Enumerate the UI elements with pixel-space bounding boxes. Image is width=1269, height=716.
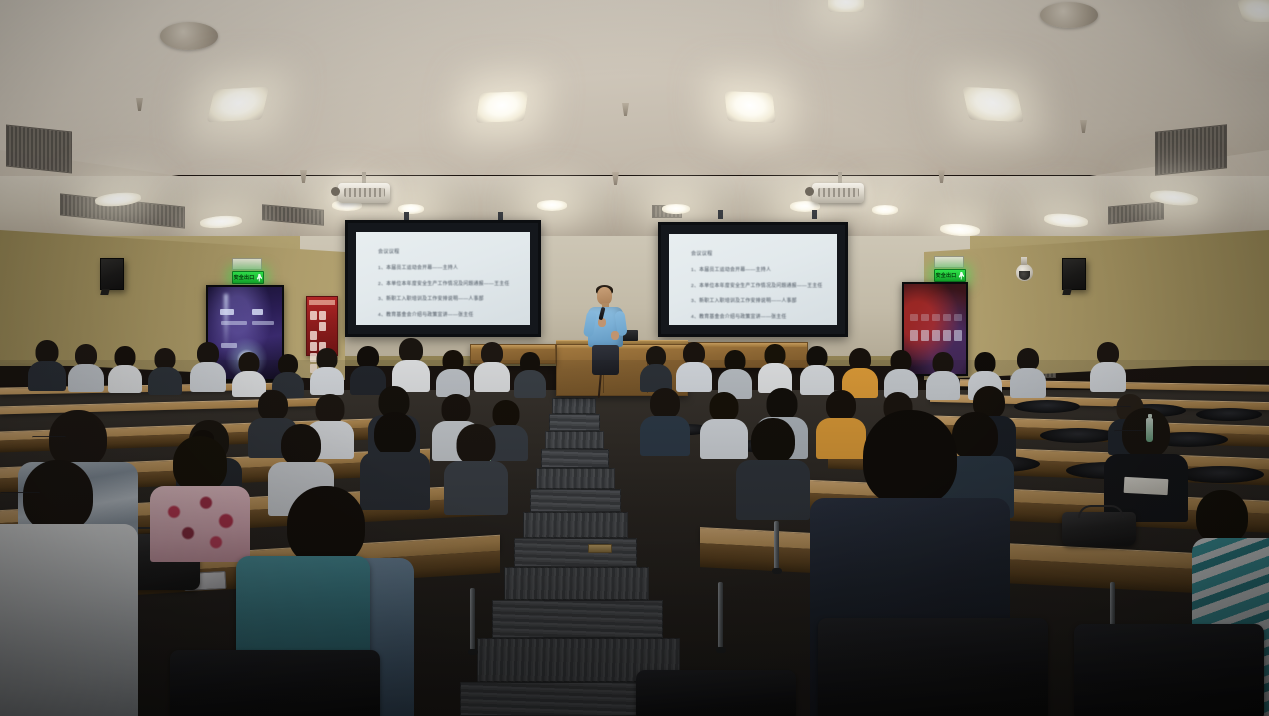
bulletin-cell [310, 311, 317, 320]
poster-cell [943, 330, 951, 341]
torso [310, 367, 344, 395]
head [767, 388, 798, 420]
audience-member [926, 352, 960, 398]
audience-member [28, 340, 66, 386]
head [1196, 490, 1248, 544]
head [710, 392, 739, 422]
poster-cell [910, 314, 918, 321]
head [258, 390, 288, 421]
carpet-tile [504, 567, 649, 600]
sign-housing [934, 256, 964, 268]
smoke-detector [1040, 2, 1098, 28]
poster-cell [932, 314, 940, 321]
presenter-legs [592, 345, 619, 375]
running-man-icon [958, 272, 964, 280]
lower-ceiling-band [0, 176, 1269, 238]
eyeglasses-icon [32, 436, 66, 439]
right-slide-line-1: 1、本届员工运动会开幕——主持人 [691, 266, 824, 273]
left-slide-line-1: 1、本届员工运动会开幕——主持人 [378, 264, 517, 271]
poster-badge [221, 321, 247, 325]
desk-leg [718, 582, 723, 648]
left-slide-line-3: 3、新职工入职培训及工作安排说明——人事部 [378, 295, 517, 302]
torso [108, 365, 142, 393]
screen-mount [812, 210, 817, 219]
chair-back [1074, 624, 1264, 716]
eyeglasses-icon [1114, 430, 1144, 433]
chair-back [818, 618, 1048, 716]
audience-member [68, 344, 104, 388]
head [23, 460, 93, 532]
carpet-tile [514, 538, 637, 567]
audience-member [640, 346, 672, 390]
exit-sign-left-label: 安全出口 [234, 274, 255, 281]
poster-cell [932, 330, 940, 341]
chair-back [1196, 408, 1262, 421]
head [650, 388, 680, 419]
audience-member [444, 424, 508, 510]
poster-cell [921, 314, 929, 321]
audience-member [736, 418, 810, 514]
torso [640, 416, 690, 456]
ceiling-light [662, 204, 690, 214]
torso [1090, 362, 1126, 392]
head [751, 418, 795, 464]
carpet-tile [549, 414, 600, 431]
dome-security-camera [1016, 264, 1033, 281]
carpet-tile [523, 512, 628, 538]
exit-sign-left: 安全出口 [232, 271, 264, 284]
torso [28, 361, 66, 391]
ceiling-light [537, 200, 567, 211]
hvac-vent [1155, 124, 1227, 176]
sign-housing [232, 258, 262, 270]
ceiling-projector-left [338, 183, 390, 203]
audience-member [676, 342, 712, 390]
poster-badge [252, 321, 274, 325]
torso [926, 371, 960, 400]
torso [736, 460, 810, 520]
poster-badge [220, 309, 234, 315]
black-bag [1062, 512, 1136, 546]
ceiling-light [398, 204, 424, 214]
torso [68, 364, 104, 392]
head [457, 424, 496, 465]
right-slide-line-2: 2、本单位本年度安全生产工作情况及问题通报——王主任 [691, 282, 824, 289]
torso [436, 369, 470, 397]
head [316, 394, 345, 424]
audience-member [718, 350, 752, 396]
carpet-tile [536, 468, 615, 489]
head [281, 424, 321, 466]
chair-back [636, 670, 796, 716]
audience-member [1090, 342, 1126, 390]
eyeglasses-icon [0, 492, 40, 495]
presenter-at-podium [585, 287, 627, 377]
carpet-tile [492, 600, 663, 638]
poster-cell [910, 330, 918, 341]
torso [474, 362, 510, 392]
left-slide-title: 会议议程 [378, 248, 517, 255]
head [374, 412, 416, 456]
audience-member [758, 344, 792, 390]
poster-cell [943, 314, 951, 321]
carpet-tile [541, 449, 609, 468]
ceiling-projector-right [812, 183, 864, 203]
exit-sign-right: 安全出口 [934, 269, 966, 282]
audience-member [310, 348, 344, 392]
desk-leg [774, 521, 779, 569]
bulletin-cell [319, 322, 326, 331]
ceiling-light [962, 87, 1024, 123]
right-projection-screen: 会议议程 1、本届员工运动会开幕——主持人 2、本单位本年度安全生产工作情况及问… [658, 222, 848, 337]
desk-leg [470, 588, 475, 650]
chair-back [1014, 400, 1080, 413]
bulletin-header-band [309, 300, 335, 305]
left-projection-screen: 会议议程 1、本届员工运动会开幕——主持人 2、本单位本年度安全生产工作情况及问… [345, 220, 541, 337]
bulletin-cell [319, 311, 326, 320]
torso [148, 367, 182, 395]
poster-icon-row [910, 314, 962, 321]
poster-cell [921, 330, 929, 341]
head [287, 486, 365, 566]
audience-member [884, 350, 918, 396]
poster-badge [252, 309, 263, 315]
chair-back [170, 650, 380, 716]
torso [190, 362, 226, 392]
left-slide-line-4: 4、教育基金会介绍与政策宣讲——张主任 [378, 311, 517, 318]
audience-member [514, 352, 546, 396]
presenter-hand [611, 331, 619, 340]
audience-member [800, 346, 834, 392]
torso [444, 461, 508, 515]
audience-member [148, 348, 182, 392]
printed-handout [1124, 477, 1169, 495]
ceiling-light [476, 91, 529, 123]
head [442, 394, 471, 424]
ceiling-light [828, 0, 864, 12]
smoke-detector [160, 22, 218, 50]
wall-speaker-right [1062, 258, 1086, 290]
right-slide-line-3: 3、新职工入职培训及工作安排说明——人事部 [691, 297, 824, 304]
audience-member [842, 348, 878, 396]
audience-member-pink-floral [150, 436, 250, 554]
lecture-hall-photo: 会议议程 1、本届员工运动会开幕——主持人 2、本单位本年度安全生产工作情况及问… [0, 0, 1269, 716]
audience-member [640, 388, 690, 452]
audience-member [392, 338, 430, 388]
ceiling-light [724, 91, 775, 123]
audience-member [474, 342, 510, 390]
bulletin-cell [310, 331, 317, 340]
running-man-icon [256, 274, 262, 282]
carpet-tile [552, 398, 596, 414]
audience-member [232, 352, 266, 394]
audience-member [436, 350, 470, 394]
right-slide-line-4: 4、教育基金会介绍与政策宣讲——张主任 [691, 313, 824, 320]
wall-speaker-left [100, 258, 124, 290]
head [173, 436, 227, 492]
screen-mount [718, 210, 723, 219]
hvac-vent [6, 125, 72, 174]
ceiling-light [207, 87, 269, 123]
torso [150, 486, 250, 562]
ceiling-light [872, 205, 898, 215]
right-screen-surface: 会议议程 1、本届员工运动会开幕——主持人 2、本单位本年度安全生产工作情况及问… [669, 234, 837, 325]
audience-member-white-shirt-foreground [0, 460, 138, 716]
audience-member [190, 342, 226, 388]
chair-back [1178, 466, 1264, 483]
red-bulletin-board [306, 296, 338, 356]
exit-sign-right-label: 安全出口 [936, 272, 957, 279]
right-slide-title: 会议议程 [691, 250, 824, 257]
torso [514, 370, 546, 398]
poster-icon-row [910, 330, 962, 341]
audience-member [108, 346, 142, 390]
poster-cell [954, 330, 962, 341]
water-bottle [1146, 418, 1153, 442]
left-screen-surface: 会议议程 1、本届员工运动会开幕——主持人 2、本单位本年度安全生产工作情况及问… [356, 232, 530, 325]
floor-outlet-plate [588, 544, 612, 553]
head [863, 410, 957, 506]
left-slide-line-2: 2、本单位本年度安全生产工作情况及问题通报——王主任 [378, 280, 517, 287]
torso [0, 524, 138, 716]
carpet-tile [530, 489, 621, 512]
carpet-tile [545, 431, 604, 449]
poster-cell [954, 314, 962, 321]
